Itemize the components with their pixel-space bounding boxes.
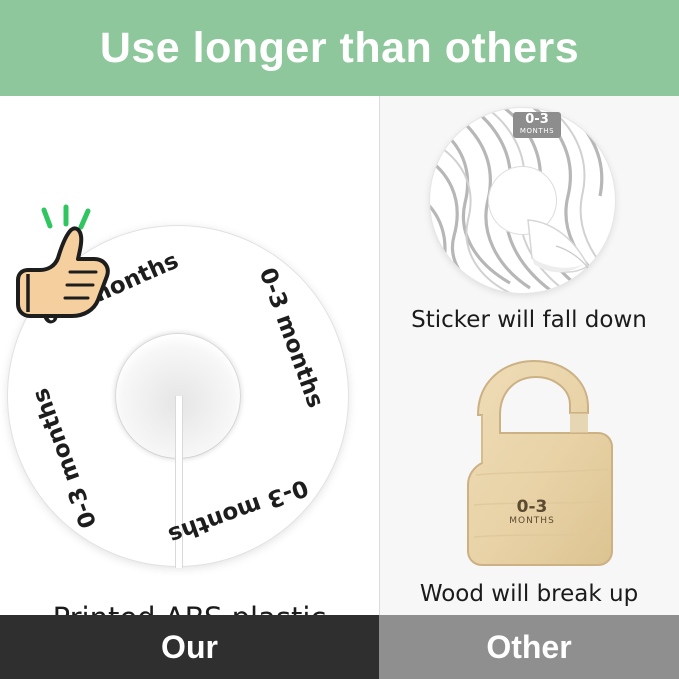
wood-hanger-shape <box>448 355 628 570</box>
wood-caption: Wood will break up <box>379 581 679 607</box>
footer-other: Other <box>379 615 679 679</box>
sticker-caption: Sticker will fall down <box>379 307 679 333</box>
sticker-size-tab: 0-3 MONTHS <box>513 112 561 138</box>
comparison-infographic: Use longer than others 0-3 months 0-3 mo… <box>0 0 679 679</box>
wooden-closet-divider: 0-3 MONTHS <box>448 355 628 570</box>
footer-ours: Our <box>0 615 379 679</box>
our-product-panel: 0-3 months 0-3 months 0-3 months 0-3 mon… <box>0 96 379 615</box>
sticker-closet-divider: 0-3 MONTHS <box>430 108 630 293</box>
page-title: Use longer than others <box>100 27 579 70</box>
footer-ours-label: Our <box>161 629 218 666</box>
wood-size-label: 0-3 MONTHS <box>492 498 572 527</box>
footer-other-label: Other <box>486 629 571 666</box>
sticker-size-value: 0-3 <box>513 113 561 127</box>
wood-size-unit: MONTHS <box>492 516 572 527</box>
thumbs-up-icon <box>8 204 128 324</box>
wood-size-value: 0-3 <box>492 498 572 516</box>
peeling-sticker-corner <box>526 216 600 282</box>
panel-divider <box>379 96 380 615</box>
sticker-size-unit: MONTHS <box>513 127 561 135</box>
header-banner: Use longer than others <box>0 0 679 96</box>
